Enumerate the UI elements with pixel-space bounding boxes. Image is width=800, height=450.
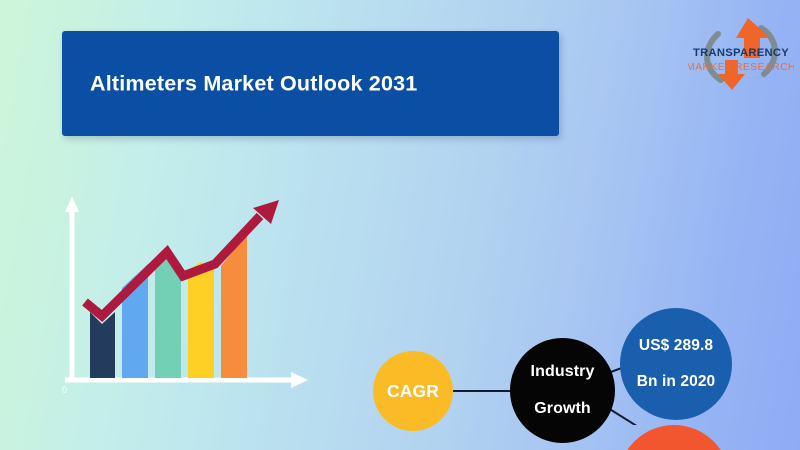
company-logo: TRANSPARENCY MARKET RESEARCH . . . . . .… (688, 8, 794, 100)
node-market-value-2020[interactable]: US$ 289.8 Bn in 2020 (620, 308, 732, 420)
node-industry-growth-line1: Industry (510, 363, 615, 382)
node-industry-growth-line2: Growth (510, 400, 615, 419)
bar-4 (188, 262, 214, 378)
title-banner: Altimeters Market Outlook 2031 (62, 31, 559, 136)
chart-origin-label: 0 (62, 385, 67, 395)
page-title: Altimeters Market Outlook 2031 (90, 71, 417, 96)
logo-text-line1: TRANSPARENCY (693, 47, 789, 59)
market-metrics-diagram: CAGR Industry Growth US$ 289.8 Bn in 202… (310, 170, 760, 425)
node-market-value-2020-label: US$ 289.8 Bn in 2020 (620, 337, 732, 391)
growth-arrow-icon (85, 200, 279, 316)
node-market-value-2031[interactable]: US$ 726.7 Bn by 2031 (618, 425, 730, 450)
node-market-value-2020-line2: Bn in 2020 (620, 373, 732, 391)
node-industry-growth-label: Industry Growth (510, 363, 615, 419)
logo-text-line2: MARKET RESEARCH (688, 62, 794, 73)
x-axis-arrow-icon (291, 372, 308, 388)
node-industry-growth[interactable]: Industry Growth (510, 338, 615, 443)
infographic-canvas: Altimeters Market Outlook 2031 TRANSPARE… (0, 0, 800, 450)
node-cagr[interactable]: CAGR (373, 351, 453, 431)
growth-bar-chart: 0 (55, 190, 320, 405)
logo-tagline: . . . . . . . . . . . . . . . . . . (711, 74, 771, 79)
bar-1 (90, 312, 115, 378)
y-axis-arrow-icon (65, 196, 79, 212)
node-cagr-label: CAGR (373, 381, 453, 401)
node-market-value-2020-line1: US$ 289.8 (620, 337, 732, 355)
